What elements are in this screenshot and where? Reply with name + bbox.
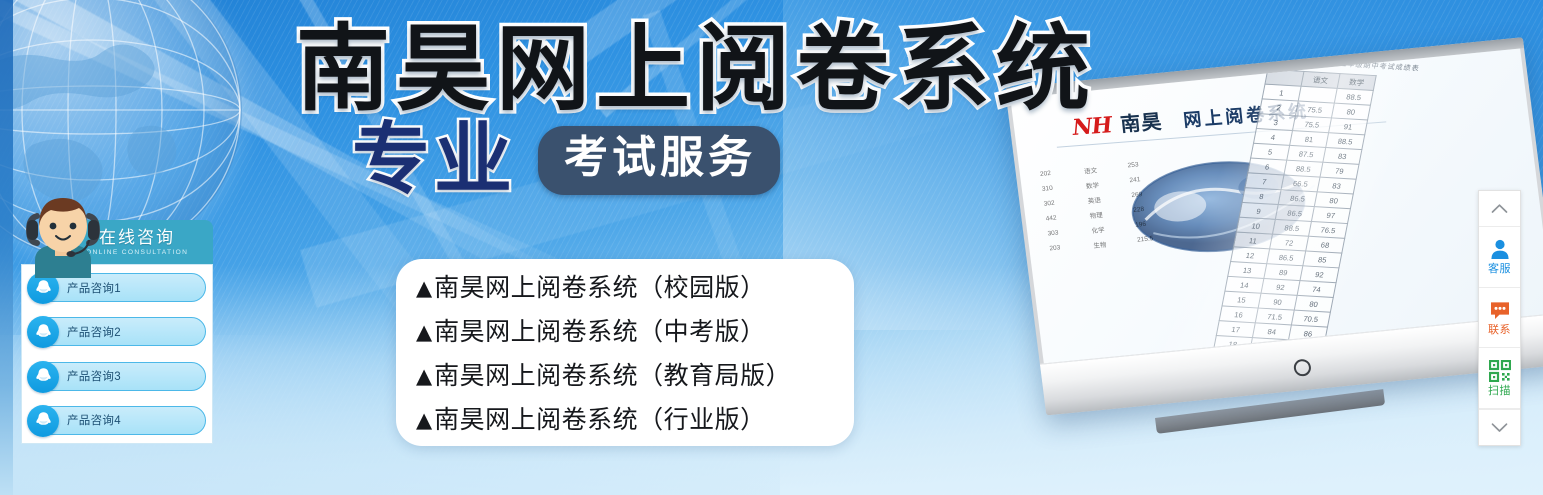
headline-block: 南昊网上阅卷系统 专业 考试服务 (296, 18, 1116, 202)
consultation-item[interactable]: 产品咨询2 (30, 317, 206, 346)
product-item[interactable]: ▲南昊网上阅卷系统（校园版） (416, 272, 834, 304)
table-cell: 269 (1131, 185, 1174, 202)
subtitle-professional: 专业 (352, 118, 516, 202)
badge-exam-service: 考试服务 (538, 126, 780, 195)
product-item[interactable]: ▲南昊网上阅卷系统（教育局版） (416, 360, 834, 392)
product-item[interactable]: ▲南昊网上阅卷系统（行业版） (416, 404, 834, 436)
promo-banner: NH 南昊 网上阅卷系统 (0, 0, 1543, 495)
scroll-up-button[interactable] (1479, 191, 1520, 227)
triangle-bullet-icon: ▲ (416, 273, 432, 303)
chevron-up-icon (1491, 203, 1508, 214)
page-title: 南昊网上阅卷系统 (296, 18, 1116, 122)
product-item-label: 南昊网上阅卷系统（行业版） (434, 404, 766, 436)
qq-penguin-icon (27, 405, 59, 437)
product-item-label: 南昊网上阅卷系统（教育局版） (434, 360, 791, 392)
table-cell: 生物 (1093, 234, 1136, 251)
qr-code-icon (1489, 360, 1511, 382)
table-cell: 442 (1045, 209, 1088, 226)
table-cell: 303 (1047, 223, 1090, 240)
consultation-item-label: 产品咨询4 (67, 412, 121, 428)
scroll-down-button[interactable] (1479, 409, 1520, 445)
triangle-bullet-icon: ▲ (416, 405, 432, 435)
product-item-label: 南昊网上阅卷系统（校园版） (434, 272, 766, 304)
nh-brand-cn: 南昊 (1119, 105, 1164, 137)
consultation-item-label: 产品咨询1 (67, 280, 121, 296)
table-cell: 253 (1127, 155, 1170, 172)
sidebar-item-kefu[interactable]: 客服 (1479, 227, 1520, 288)
triangle-bullet-icon: ▲ (416, 317, 432, 347)
person-icon (1489, 238, 1511, 260)
consultation-item-label: 产品咨询2 (67, 324, 121, 340)
qq-penguin-icon (27, 361, 59, 393)
left-edge-strip (0, 0, 13, 495)
consultation-item-label: 产品咨询3 (67, 368, 121, 384)
sidebar-item-lianxi[interactable]: 联系 (1479, 288, 1520, 349)
consultation-list: 产品咨询1产品咨询2产品咨询3产品咨询4 (21, 264, 213, 444)
product-item[interactable]: ▲南昊网上阅卷系统（中考版） (416, 316, 834, 348)
online-consultation-widget: 在线咨询 ONLINE CONSULTATION 产品咨询1产品咨询2产品咨询3… (13, 186, 213, 464)
consultation-title-cn: 在线咨询 (99, 228, 175, 248)
consultation-item[interactable]: 产品咨询3 (30, 362, 206, 391)
consultation-item[interactable]: 产品咨询4 (30, 406, 206, 435)
sidebar-item-saomiao[interactable]: 扫描 (1479, 348, 1520, 409)
product-item-label: 南昊网上阅卷系统（中考版） (434, 316, 766, 348)
table-cell: 241 (1129, 170, 1172, 187)
table-cell: 228 (1133, 200, 1176, 217)
product-list-box: ▲南昊网上阅卷系统（校园版）▲南昊网上阅卷系统（中考版）▲南昊网上阅卷系统（教育… (396, 259, 854, 446)
table-cell: 203 (1049, 238, 1092, 255)
qq-penguin-icon (27, 316, 59, 348)
subtitle-row: 专业 考试服务 (352, 118, 1116, 202)
table-cell: 化学 (1091, 219, 1134, 236)
sidebar-label-saomiao: 扫描 (1488, 385, 1511, 397)
customer-service-avatar-icon (19, 186, 107, 278)
table-cell: 物理 (1089, 204, 1132, 221)
table-cell: 215.5 (1136, 230, 1179, 247)
sidebar-label-kefu: 客服 (1488, 263, 1511, 275)
triangle-bullet-icon: ▲ (416, 361, 432, 391)
chevron-down-icon (1491, 422, 1508, 433)
sidebar-label-lianxi: 联系 (1488, 324, 1511, 336)
table-cell: 196 (1134, 215, 1177, 232)
chat-bubble-icon (1489, 299, 1511, 321)
floating-side-toolbar[interactable]: 客服 联系 (1478, 190, 1521, 446)
